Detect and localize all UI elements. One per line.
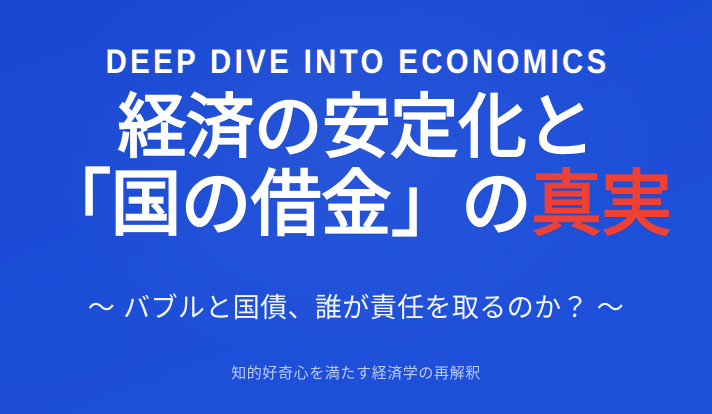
title-slide: DEEP DIVE INTO ECONOMICS 経済の安定化と 「国の借金」の… — [0, 0, 712, 414]
headline-accent-word: 真実 — [531, 165, 671, 245]
headline-line-2-plain: 「国の借金」の — [41, 165, 532, 245]
headline-line-2: 「国の借金」の真実 — [7, 166, 705, 244]
subtitle: 〜 バブルと国債、誰が責任を取るのか？ 〜 — [0, 291, 712, 325]
tagline: 知的好奇心を満たす経済学の再解釈 — [0, 364, 712, 384]
headline-line-1: 経済の安定化と — [7, 88, 705, 166]
headline: 経済の安定化と 「国の借金」の真実 — [0, 88, 712, 244]
eyebrow-heading: DEEP DIVE INTO ECONOMICS — [50, 42, 662, 82]
